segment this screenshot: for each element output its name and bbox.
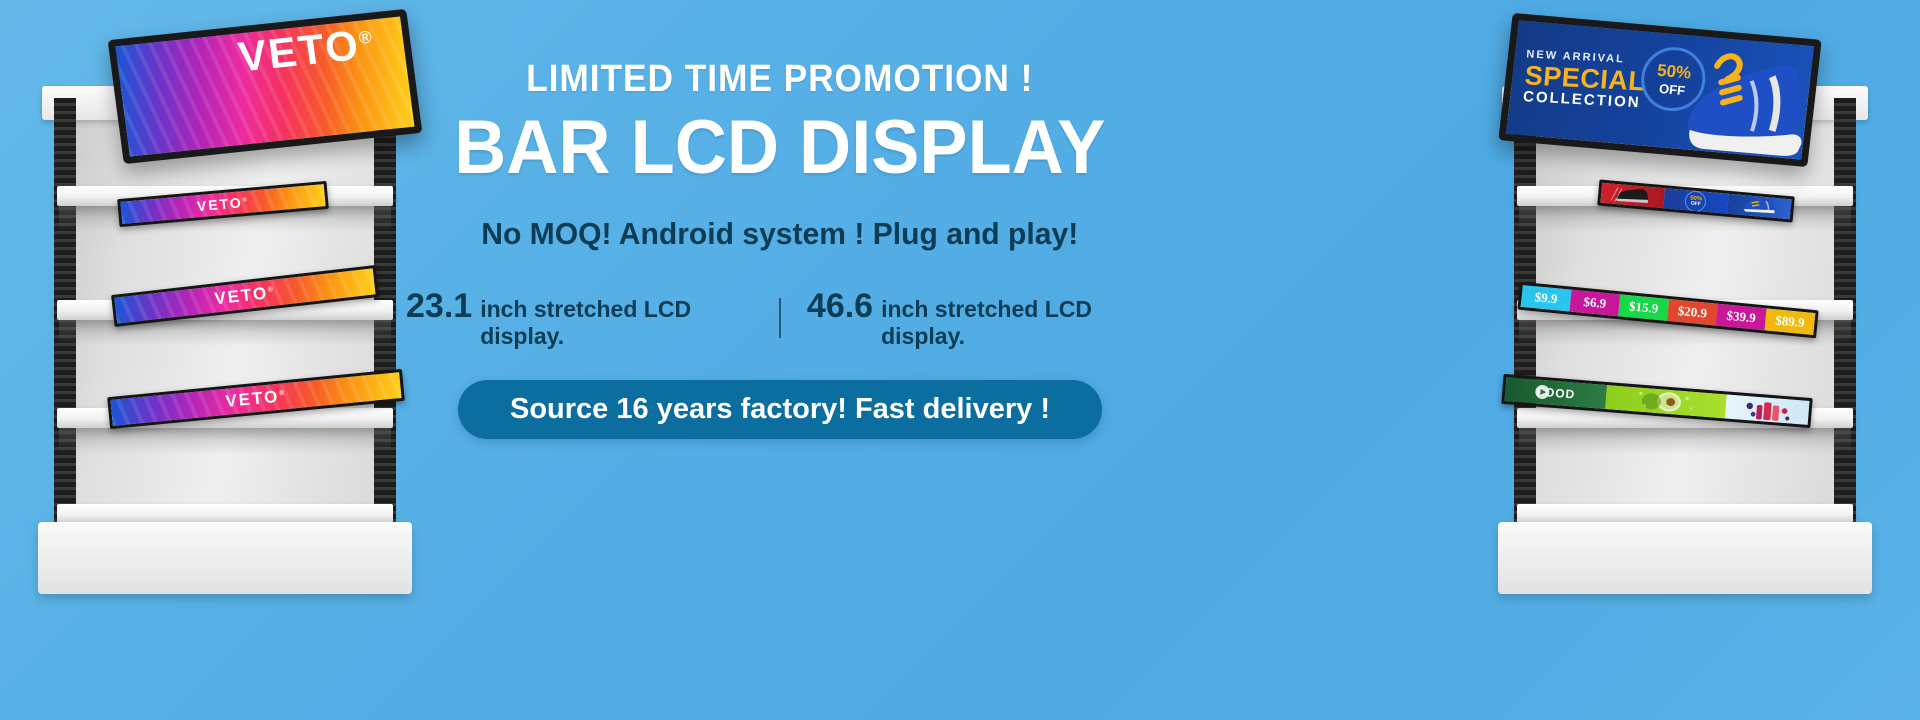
spec-label: inch stretched LCD display. xyxy=(881,296,1154,350)
spec-row: 23.1 inch stretched LCD display. 46.6 in… xyxy=(380,287,1180,350)
kicker-text: LIMITED TIME PROMOTION ! xyxy=(526,60,1033,100)
shelf-base xyxy=(1498,522,1872,594)
shelf-base xyxy=(38,522,412,594)
price-tag: $89.9 xyxy=(1764,308,1815,335)
left-shelf-unit: VETO® VETO® VETO® VETO® xyxy=(20,0,440,720)
black-shoe-icon xyxy=(1600,183,1665,208)
food-segment-avocado xyxy=(1606,385,1727,418)
price-tag: $6.9 xyxy=(1569,290,1620,317)
spec-label: inch stretched LCD display. xyxy=(480,296,753,350)
promo-banner: VETO® VETO® VETO® VETO® LIMITED TIME PRO… xyxy=(0,0,1920,720)
subtitle-text: No MOQ! Android system ! Plug and play! xyxy=(481,215,1078,252)
right-hero-lcd-display[interactable]: NEW ARRIVAL SPECIAL COLLECTION 50% OFF xyxy=(1498,13,1821,167)
avocado-icon xyxy=(1606,385,1727,418)
spec-divider xyxy=(779,298,781,338)
shoe-advertisement: NEW ARRIVAL SPECIAL COLLECTION 50% OFF xyxy=(1506,20,1814,159)
cta-button[interactable]: Source 16 years factory! Fast delivery ! xyxy=(458,380,1102,439)
badge-label: OFF xyxy=(1691,201,1701,207)
shelf-4 xyxy=(1517,504,1853,524)
discount-badge-small: 50% OFF xyxy=(1685,190,1708,213)
promo-segment-discount: 50% OFF xyxy=(1664,188,1729,213)
ad-text-group: NEW ARRIVAL SPECIAL COLLECTION xyxy=(1522,49,1647,111)
price-tag: $9.9 xyxy=(1521,285,1572,312)
price-tag: $39.9 xyxy=(1716,304,1767,331)
shelf-4 xyxy=(57,504,393,524)
price-tag: $15.9 xyxy=(1618,294,1669,321)
page-title: BAR LCD DISPLAY xyxy=(454,106,1105,190)
price-tag: $20.9 xyxy=(1667,299,1718,326)
center-text-block: LIMITED TIME PROMOTION ! BAR LCD DISPLAY… xyxy=(380,60,1180,480)
spec-item-46: 46.6 inch stretched LCD display. xyxy=(781,287,1180,350)
promo-segment-shoe xyxy=(1600,183,1665,208)
spec-size: 46.6 xyxy=(807,287,873,326)
sneaker-icon xyxy=(1727,194,1792,219)
promo-segment-sneaker xyxy=(1727,194,1792,219)
sneaker-icon xyxy=(1667,39,1820,165)
food-segment-drinks xyxy=(1725,394,1810,424)
right-shelf-unit: NEW ARRIVAL SPECIAL COLLECTION 50% OFF xyxy=(1480,0,1900,720)
berry-drink-icon xyxy=(1725,394,1810,424)
left-gondola xyxy=(60,108,390,528)
food-segment-title: FOOD xyxy=(1505,377,1608,409)
